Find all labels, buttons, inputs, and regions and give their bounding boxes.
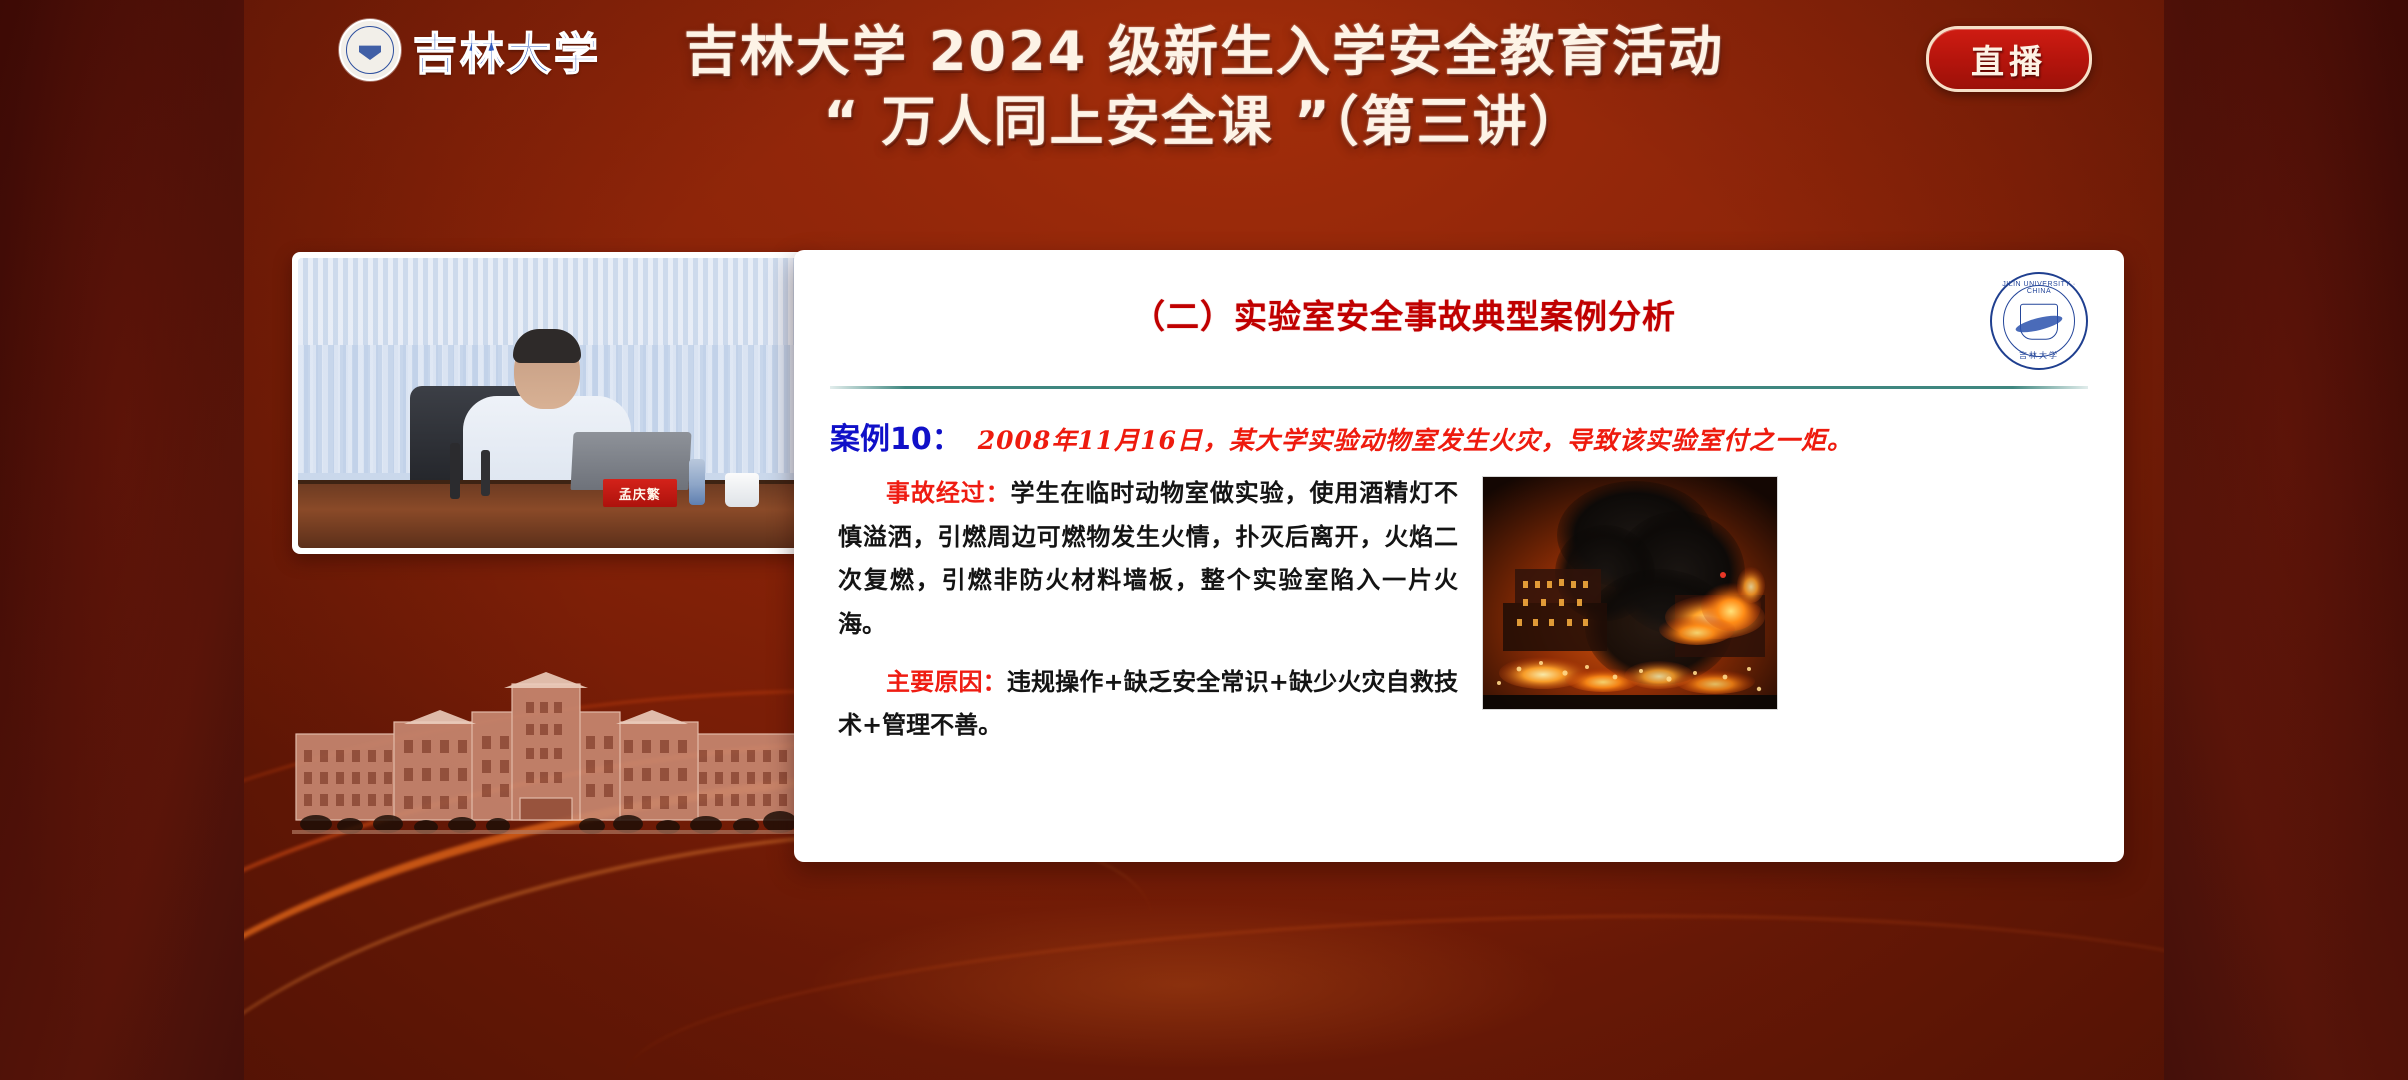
- speaker-nameplate-label: 孟庆繁: [619, 484, 661, 503]
- speaker-head: [514, 331, 580, 409]
- seal-bottom-text: 吉林大学: [1992, 350, 2086, 361]
- speaker-video-panel[interactable]: 孟庆繁: [292, 252, 812, 554]
- slide-content: （二）实验室安全事故典型案例分析 JILIN UNIVERSITY · CHIN…: [794, 250, 2124, 862]
- header-title-block: 吉林大学 2024 级新生入学安全教育活动 “ 万人同上安全课 ”（第三讲）: [244, 20, 2164, 153]
- live-badge-label: 直播: [1971, 35, 2047, 83]
- water-bottle-shape: [689, 459, 705, 505]
- paragraph-incident-label: 事故经过：: [886, 479, 1011, 507]
- microphone-icon: [450, 443, 460, 499]
- broadcast-stage: 吉林大学 吉林大学 2024 级新生入学安全教育活动 “ 万人同上安全课 ”（第…: [244, 0, 2164, 1080]
- fire-incident-photo: [1482, 476, 1778, 710]
- broadcast-header: 吉林大学 吉林大学 2024 级新生入学安全教育活动 “ 万人同上安全课 ”（第…: [244, 0, 2164, 215]
- slide-body-column: 事故经过：学生在临时动物室做实验，使用酒精灯不慎溢洒，引燃周边可燃物发生火情，扑…: [838, 472, 1458, 762]
- paragraph-cause-label: 主要原因：: [886, 668, 1007, 696]
- paragraph-cause: 主要原因：违规操作+缺乏安全常识+缺少火灾自救技术+管理不善。: [838, 661, 1458, 748]
- case-heading: 案例10：2008年11月16日，某大学实验动物室发生火灾，导致该实验室付之一炬…: [830, 414, 2096, 458]
- slide-title: （二）实验室安全事故典型案例分析: [794, 290, 2124, 338]
- header-title-line-2: “ 万人同上安全课 ”（第三讲）: [244, 90, 2164, 154]
- header-title-line-1: 吉林大学 2024 级新生入学安全教育活动: [244, 20, 2164, 84]
- slide-title-text: （二）实验室安全事故典型案例分析: [1132, 297, 1676, 336]
- tea-cup-shape: [725, 473, 759, 507]
- campus-building-icon: [276, 672, 816, 852]
- campus-building-illustration: [276, 672, 816, 852]
- seal-top-text: JILIN UNIVERSITY · CHINA: [1992, 281, 2086, 295]
- presentation-slide[interactable]: （二）实验室安全事故典型案例分析 JILIN UNIVERSITY · CHIN…: [794, 250, 2124, 862]
- fire-scene-graphic: [1483, 477, 1777, 709]
- jilin-university-seal-icon: JILIN UNIVERSITY · CHINA 吉林大学: [1990, 272, 2088, 370]
- microphone-secondary-icon: [481, 450, 490, 496]
- speaker-video-frame: 孟庆繁: [298, 258, 806, 548]
- speaker-hair: [513, 329, 581, 363]
- letterbox-left: [0, 0, 244, 1080]
- case-description: 2008年11月16日，某大学实验动物室发生火灾，导致该实验室付之一炬。: [978, 426, 1853, 455]
- live-badge[interactable]: 直播: [1926, 26, 2092, 92]
- letterbox-right: [2164, 0, 2408, 1080]
- slide-divider: [830, 386, 2088, 389]
- speaker-nameplate: 孟庆繁: [603, 479, 677, 507]
- paragraph-incident: 事故经过：学生在临时动物室做实验，使用酒精灯不慎溢洒，引燃周边可燃物发生火情，扑…: [838, 472, 1458, 647]
- case-label: 案例10：: [830, 422, 962, 457]
